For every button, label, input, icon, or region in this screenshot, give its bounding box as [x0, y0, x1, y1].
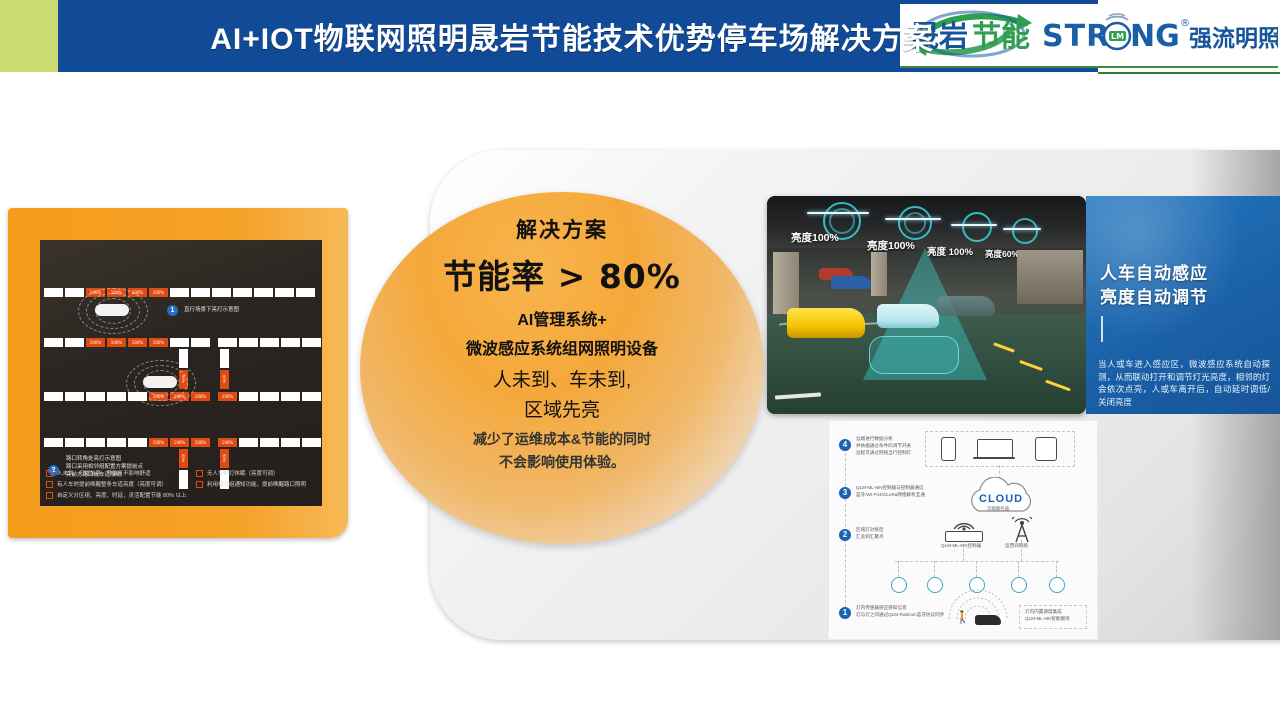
lamp-drop — [898, 561, 899, 577]
lamp-tube — [1003, 228, 1041, 230]
legend-label: 有人车时提前唤醒整条车道亮度（亮度可调） — [57, 480, 167, 488]
legend-marker-icon — [46, 470, 53, 477]
step-1-line-2: 灯与灯之间通过QLM-Radcom蓝牙协议同步 — [856, 612, 944, 618]
legend-marker-icon — [196, 470, 203, 477]
diagram-legend: 人未到，灯提前亮，节能且不影响舒适 有人车时提前唤醒整条车道亮度（亮度可调） 自… — [46, 469, 318, 502]
blue-panel-title-line1: 人车自动感应 — [1100, 262, 1208, 286]
tower-label: 运营商网络 — [1005, 543, 1028, 549]
lane-segment — [281, 338, 300, 347]
timeline-spine — [845, 443, 846, 613]
legend-item: 利用相邻组通知功能，提前唤醒路口照明 — [196, 480, 322, 488]
lane-segment — [254, 288, 273, 297]
parking-garage-photo: 亮度100% 亮度100% 亮度 100% 亮度60% — [767, 196, 1086, 414]
callout-number-1: 1 — [167, 305, 178, 316]
lane-segment — [275, 288, 294, 297]
svg-text:强流明照明: 强流明照明 — [1189, 25, 1278, 52]
callout-text-2a: 路口转角处亮灯示意图 — [66, 456, 121, 464]
solution-line-4: 区域先亮 — [524, 395, 600, 422]
car-illuminated — [877, 304, 939, 328]
solution-line-3: 人未到、车未到, — [493, 365, 631, 392]
lane-segment — [281, 392, 300, 401]
lane-segment — [191, 288, 210, 297]
svg-text:LM: LM — [1111, 32, 1124, 41]
lane-segment — [86, 438, 105, 447]
lane-segment — [281, 438, 300, 447]
module-label-2: QLM-ML-MK智能模块 — [1025, 616, 1070, 622]
car-icon — [95, 304, 129, 316]
step-1-line-1: 灯内传感器感应感知信息 — [856, 605, 907, 611]
energy-saving-rate: 节能率 > 80% — [443, 250, 681, 298]
solution-highlight-ellipse: 解决方案 节能率 > 80% AI管理系统+ 微波感应系统组网照明设备 人未到、… — [360, 192, 764, 544]
lane-segment — [65, 338, 84, 347]
lane-segment-active: 50% — [220, 449, 229, 468]
step-number-4: 4 — [839, 439, 851, 451]
step-4-line-2: 并依据通过条件的调节开关 — [856, 443, 911, 449]
lamp-drop — [1056, 561, 1057, 577]
lane-segment — [260, 438, 279, 447]
svg-text:NG: NG — [1130, 19, 1180, 54]
lane-row-4: 100% 100% 100% — [44, 438, 210, 447]
lane-segment — [220, 349, 229, 368]
legend-label: 自定义分区组、亮度、时延，灵活配置节能 80% 以上 — [57, 491, 187, 499]
lamp-ring-inner-icon — [904, 212, 926, 234]
lane-segment — [260, 392, 279, 401]
auto-sensing-panel: 人车自动感应 亮度自动调节 当人或车进入感应区，微波感应系统自动探测，从而联动打… — [1086, 196, 1280, 414]
lane-row-4b: 100% — [218, 438, 321, 447]
lane-segment — [239, 392, 258, 401]
brightness-tag-4: 亮度60% — [985, 248, 1019, 260]
chevron-right-icon — [0, 0, 58, 72]
garage-wall — [1017, 250, 1083, 304]
lane-segment — [128, 438, 147, 447]
lane-segment — [218, 338, 237, 347]
slide-header: AI+IOT物联网照明晟岩节能技术优势停车场解决方案 晟岩 节能 STR LM … — [0, 0, 1280, 72]
lane-segment — [296, 288, 315, 297]
parking-diagram-panel: 100% 100% 100% 100% 100% 100% 100% 100% — [8, 208, 348, 538]
lane-row-2: 100% 100% 100% 100% — [44, 338, 210, 347]
lane-segment-active: 100% — [86, 338, 105, 347]
lane-row-2b — [218, 338, 321, 347]
phone-icon — [941, 437, 956, 461]
cloud-uplink — [999, 465, 1000, 479]
vehicle-icon — [975, 615, 1001, 625]
blue-panel-body: 当人或车进入感应区，微波感应系统自动探测，从而联动打开和调节灯光亮度，相邻的灯会… — [1098, 358, 1270, 408]
car-grey — [937, 296, 995, 316]
step-3-line-2: 蓝牙/WI-FI/4G/LoRa网络解析互通 — [856, 492, 925, 498]
lane-segment — [302, 392, 321, 401]
lane-row-1: 100% 100% 100% 100% — [44, 288, 315, 297]
lamp-tube — [951, 224, 997, 226]
solution-line-2: 微波感应系统组网照明设备 — [466, 335, 658, 359]
wifi-icon — [951, 517, 977, 531]
lane-segment-active: 100% — [149, 338, 168, 347]
lane-segment — [65, 438, 84, 447]
lamp-node — [1049, 577, 1065, 593]
parking-lot-diagram: 100% 100% 100% 100% 100% 100% 100% 100% — [40, 240, 322, 506]
lamp-drop — [976, 561, 977, 577]
tower-downlink — [1021, 540, 1022, 561]
brightness-tag-1: 亮度100% — [791, 230, 839, 245]
lane-segment — [239, 338, 258, 347]
tablet-icon — [1035, 437, 1057, 461]
step-number-2: 2 — [839, 529, 851, 541]
laptop-base — [973, 457, 1015, 459]
iot-network-diagram: 4 远端进行数据分析 并依据通过条件的调节开关 远程可通过网络当行控制灯 3 Q… — [828, 420, 1098, 640]
car-icon — [143, 376, 177, 388]
lane-segment-active: 100% — [191, 438, 210, 447]
lane-segment — [170, 338, 189, 347]
lane-segment-active: 50% — [220, 370, 229, 389]
cell-tower-icon — [1007, 517, 1037, 543]
lamp-ring-icon — [962, 212, 992, 242]
lane-row-3b: 100% — [218, 392, 321, 401]
lamp-node — [891, 577, 907, 593]
title-divider — [1101, 316, 1103, 342]
lane-segment — [239, 438, 258, 447]
lane-segment — [44, 288, 63, 297]
step-2-line-1: 区域灯对接后 — [856, 527, 884, 533]
solution-line-5: 减少了运维成本&节能的同时 — [473, 429, 651, 449]
lane-segment-active: 100% — [170, 438, 189, 447]
step-number-1: 1 — [839, 607, 851, 619]
router-icon — [945, 531, 983, 542]
legend-item: 自定义分区组、亮度、时延，灵活配置节能 80% 以上 — [46, 491, 318, 499]
step-3-line-1: QLM-ML-MK控制器与控制器通信 — [856, 485, 924, 491]
blue-panel-title-line2: 亮度自动调节 — [1100, 286, 1208, 310]
legend-label: 利用相邻组通知功能，提前唤醒路口照明 — [207, 480, 306, 488]
lamp-tube — [885, 218, 941, 220]
module-label-1: 灯内内置调度集成 — [1025, 609, 1062, 615]
step-4-line-3: 远程可通过网络当行控制灯 — [856, 450, 911, 456]
legend-marker-icon — [46, 481, 53, 488]
lane-segment — [44, 392, 63, 401]
lane-segment — [212, 288, 231, 297]
solution-line-6: 不会影响使用体验。 — [499, 452, 625, 472]
car-yellow — [787, 308, 865, 338]
lane-segment-active: 100% — [191, 392, 210, 401]
router-label: QLM-ML-MK控制器 — [941, 543, 981, 549]
lane-segment — [191, 338, 210, 347]
lane-segment — [44, 438, 63, 447]
step-4-line-1: 远端进行数据分析 — [856, 436, 893, 442]
lane-segment — [65, 288, 84, 297]
legend-marker-icon — [196, 481, 203, 488]
callout-text-1: 直行场景下亮灯示意图 — [184, 307, 239, 315]
lane-segment — [65, 392, 84, 401]
solution-heading: 解决方案 — [516, 214, 608, 244]
lamp-ring-icon — [1012, 218, 1038, 244]
lane-segment — [302, 438, 321, 447]
step-number-3: 3 — [839, 487, 851, 499]
lane-segment — [302, 338, 321, 347]
lane-segment-active: 100% — [149, 288, 168, 297]
router-downlink — [963, 540, 964, 561]
cloud-sublabel: 云端服务器 — [987, 506, 1009, 512]
lane-segment-active: 100% — [149, 438, 168, 447]
lamp-drop — [1018, 561, 1019, 577]
car-hologram — [869, 336, 959, 374]
page-title: AI+IOT物联网照明晟岩节能技术优势停车场解决方案 — [62, 0, 1082, 72]
pedestrian-icon: 🚶 — [955, 611, 970, 623]
vertical-lane-2: 50% — [220, 349, 229, 389]
lane-segment-active: 100% — [107, 338, 126, 347]
legend-item: 无人车时灯休眠（亮度可调） — [196, 469, 322, 477]
legend-marker-icon — [46, 492, 53, 499]
laptop-icon — [977, 439, 1013, 459]
legend-label: 无人车时灯休眠（亮度可调） — [207, 469, 279, 477]
lane-segment — [44, 338, 63, 347]
lane-segment — [107, 392, 126, 401]
lane-segment-active: 50% — [179, 449, 188, 468]
step-2-line-2: 汇总到汇聚点 — [856, 534, 884, 540]
lamp-tube — [807, 212, 869, 214]
lane-segment-active: 100% — [218, 392, 237, 401]
lane-segment — [233, 288, 252, 297]
blue-panel-title: 人车自动感应 亮度自动调节 — [1100, 262, 1208, 310]
legend-label: 人未到，灯提前亮，节能且不影响舒适 — [57, 469, 151, 477]
lamp-bus-line — [895, 561, 1059, 562]
lane-segment-active: 100% — [128, 338, 147, 347]
solution-line-1: AI管理系统+ — [517, 306, 606, 330]
lamp-drop — [934, 561, 935, 577]
lane-segment — [86, 392, 105, 401]
lane-segment — [260, 338, 279, 347]
lane-segment — [170, 288, 189, 297]
diagram-legend-column-2: 无人车时灯休眠（亮度可调） 利用相邻组通知功能，提前唤醒路口照明 — [196, 469, 322, 491]
lane-segment — [107, 438, 126, 447]
lane-segment-active: 100% — [218, 438, 237, 447]
cloud-label: CLOUD — [979, 493, 1023, 505]
